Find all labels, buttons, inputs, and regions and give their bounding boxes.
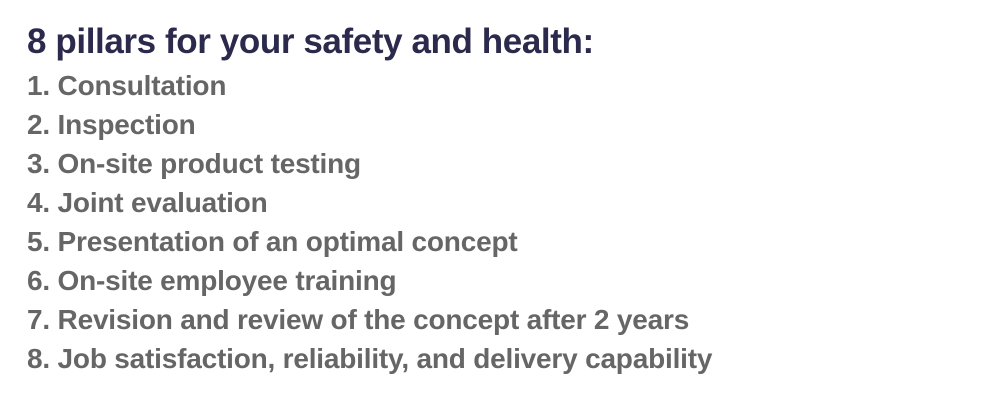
list-item-label: Inspection bbox=[58, 109, 196, 140]
list-item: 1. Consultation bbox=[27, 66, 1000, 105]
list-item-number: 8. bbox=[27, 343, 50, 374]
list-item-number: 4. bbox=[27, 187, 50, 218]
page-title: 8 pillars for your safety and health: bbox=[27, 20, 1000, 64]
list-item: 8. Job satisfaction, reliability, and de… bbox=[27, 339, 1000, 378]
list-item-number: 6. bbox=[27, 265, 50, 296]
list-item-number: 5. bbox=[27, 226, 50, 257]
list-item-label: Consultation bbox=[58, 70, 227, 101]
list-item: 5. Presentation of an optimal concept bbox=[27, 222, 1000, 261]
list-item: 2. Inspection bbox=[27, 105, 1000, 144]
pillars-list: 1. Consultation 2. Inspection 3. On-site… bbox=[27, 66, 1000, 378]
pillars-slide: 8 pillars for your safety and health: 1.… bbox=[0, 0, 1000, 416]
list-item: 6. On-site employee training bbox=[27, 261, 1000, 300]
list-item-label: On-site employee training bbox=[58, 265, 397, 296]
list-item: 4. Joint evaluation bbox=[27, 183, 1000, 222]
list-item-number: 2. bbox=[27, 109, 50, 140]
list-item: 3. On-site product testing bbox=[27, 144, 1000, 183]
list-item-label: Joint evaluation bbox=[58, 187, 268, 218]
list-item-label: Job satisfaction, reliability, and deliv… bbox=[58, 343, 713, 374]
list-item-number: 3. bbox=[27, 148, 50, 179]
list-item-number: 7. bbox=[27, 304, 50, 335]
list-item-label: Revision and review of the concept after… bbox=[58, 304, 690, 335]
list-item-number: 1. bbox=[27, 70, 50, 101]
list-item: 7. Revision and review of the concept af… bbox=[27, 300, 1000, 339]
list-item-label: On-site product testing bbox=[58, 148, 361, 179]
list-item-label: Presentation of an optimal concept bbox=[58, 226, 518, 257]
